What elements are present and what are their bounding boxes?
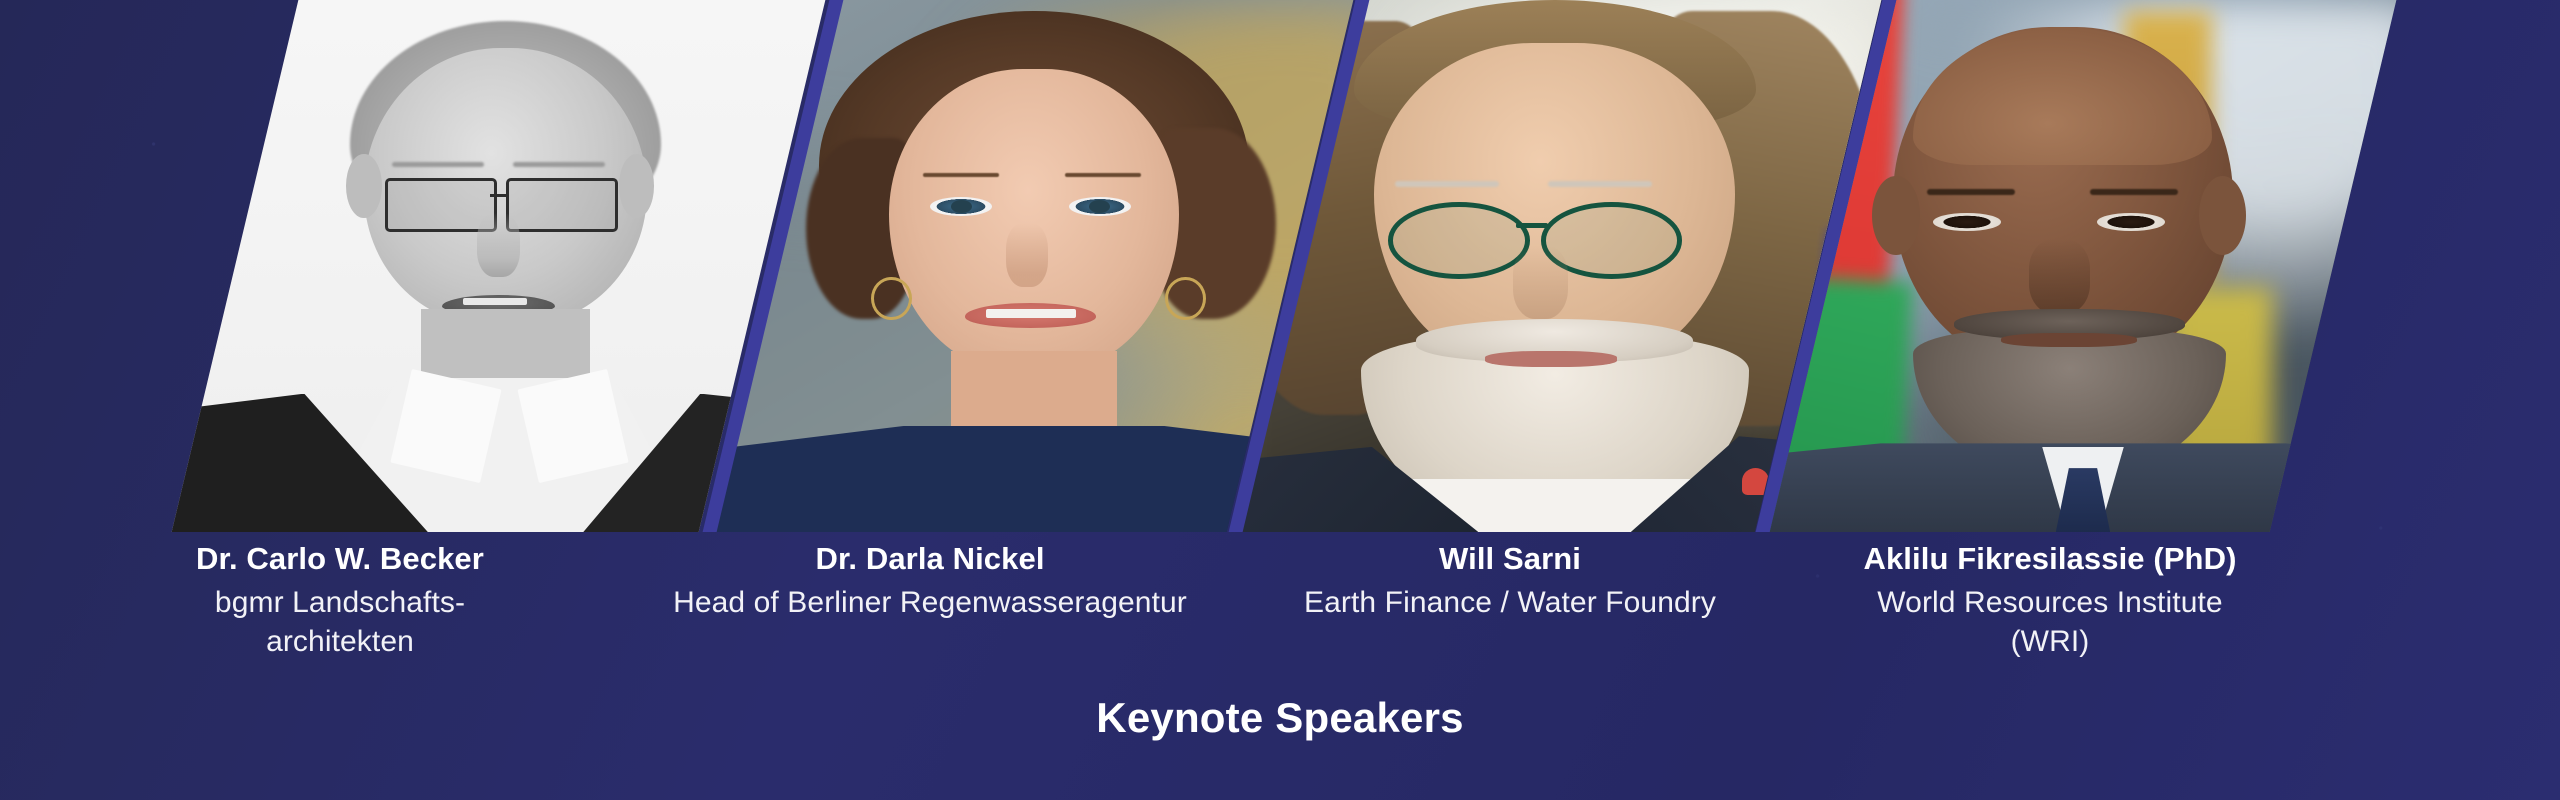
speaker-name-4: Aklilu Fikresilassie (PhD)	[1790, 540, 2310, 578]
speaker-role-1: bgmr Landschafts- architekten	[100, 583, 580, 661]
speaker-captions: Dr. Carlo W. Becker bgmr Landschafts- ar…	[0, 540, 2560, 800]
speaker-caption-4: Aklilu Fikresilassie (PhD) World Resourc…	[1790, 540, 2310, 661]
speaker-name-3: Will Sarni	[1250, 540, 1770, 578]
keynote-speakers-title: Keynote Speakers	[0, 694, 2560, 742]
speaker-role-1-line1: bgmr Landschafts-	[215, 586, 465, 619]
speaker-role-4-line1: World Resources Institute	[1877, 586, 2222, 619]
speaker-role-4: World Resources Institute (WRI)	[1790, 583, 2310, 661]
speaker-caption-3: Will Sarni Earth Finance / Water Foundry	[1250, 540, 1770, 622]
speaker-role-3: Earth Finance / Water Foundry	[1250, 583, 1770, 622]
speaker-caption-1: Dr. Carlo W. Becker bgmr Landschafts- ar…	[100, 540, 580, 661]
speaker-role-2-line1: Head of Berliner Regenwasseragentur	[673, 586, 1187, 619]
speaker-role-4-line2: (WRI)	[2011, 625, 2090, 658]
speaker-photo-strip	[0, 0, 2560, 532]
speaker-name-2: Dr. Darla Nickel	[620, 540, 1240, 578]
speaker-role-1-line2: architekten	[266, 625, 414, 658]
speaker-caption-2: Dr. Darla Nickel Head of Berliner Regenw…	[620, 540, 1240, 622]
speaker-role-3-line1: Earth Finance / Water Foundry	[1304, 586, 1716, 619]
speaker-name-1: Dr. Carlo W. Becker	[100, 540, 580, 578]
speaker-role-2: Head of Berliner Regenwasseragentur	[620, 583, 1240, 622]
